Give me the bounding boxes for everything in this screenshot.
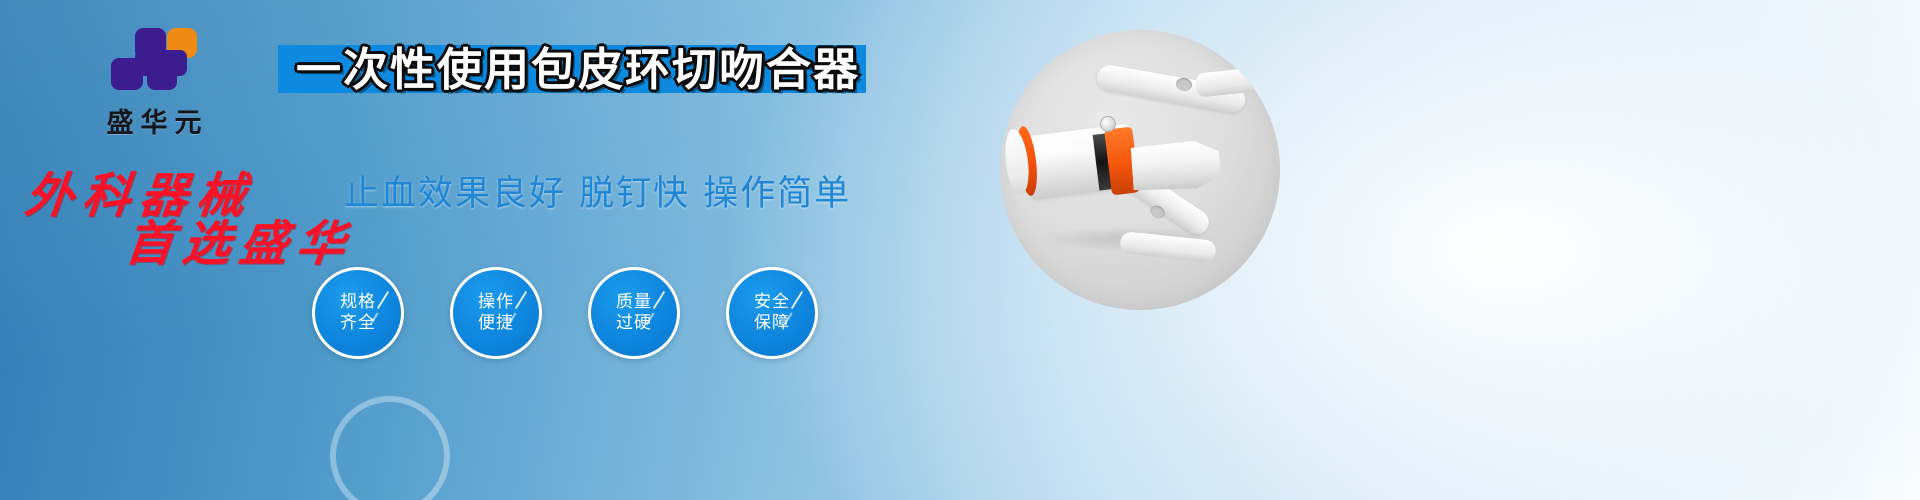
slash-accent-icon [653,291,665,309]
feature-badge-4-line1: 安全 [754,292,790,313]
brand-name: 盛华元 [64,101,244,140]
logo-mark-icon [111,28,197,92]
decorative-arc [330,396,450,500]
feature-badge-2[interactable]: 操作 便捷 [450,267,542,359]
feature-badge-2-line1: 操作 [478,292,514,313]
logo-square-bottom-right [147,62,177,90]
slash-accent-icon [377,291,389,309]
product-photo[interactable] [1000,30,1280,310]
feature-badge-1-line1: 规格 [340,292,376,313]
logo-square-bottom-left [111,58,143,90]
promotional-banner: 盛华元 一次性使用包皮环切吻合器 外科器械 首选盛华 止血效果良好 脱钉快 操作… [0,0,1920,500]
stapler-upper-arm-tip [1195,66,1269,97]
slash-accent-icon [791,291,803,309]
page-title: 一次性使用包皮环切吻合器 [296,39,896,101]
subtitle: 止血效果良好 脱钉快 操作简单 [344,165,851,216]
slash-accent-icon [515,291,527,309]
feature-badge-list: 规格 齐全 操作 便捷 质量 过硬 安全 保障 [312,267,818,359]
feature-badge-4[interactable]: 安全 保障 [726,267,818,359]
feature-badge-1[interactable]: 规格 齐全 [312,267,404,359]
stapler-pivot [1100,116,1116,132]
calligraphy-line-2: 首选盛华 [122,204,357,274]
brand-logo[interactable]: 盛华元 [64,28,244,140]
feature-badge-3-line1: 质量 [616,292,652,313]
feature-badge-3[interactable]: 质量 过硬 [588,267,680,359]
stapler-nose-cone [1130,139,1221,193]
